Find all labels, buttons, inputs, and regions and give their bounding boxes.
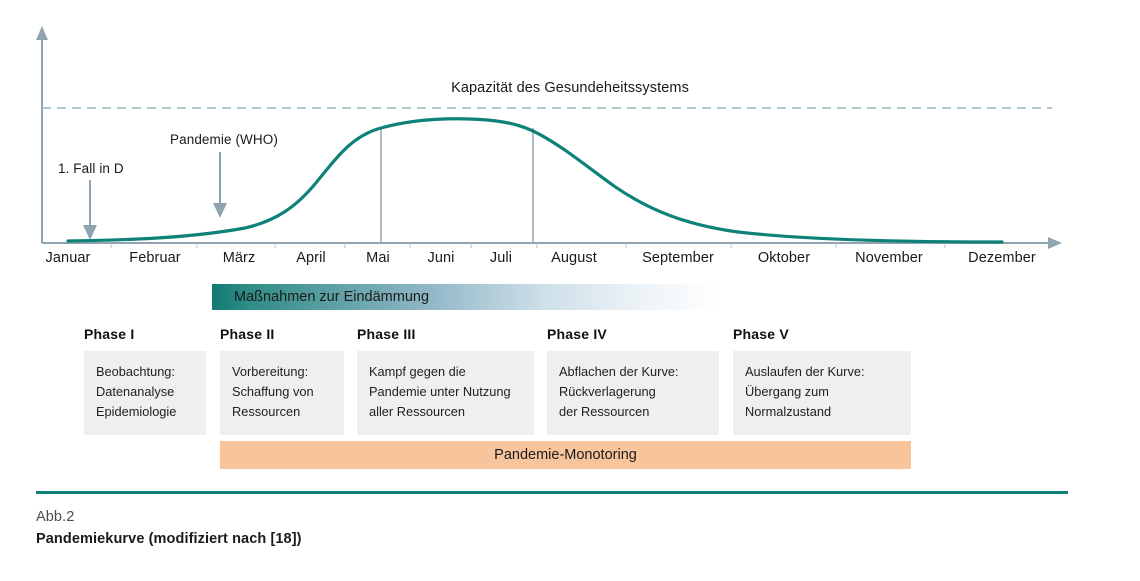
containment-measures-bar: Maßnahmen zur Eindämmung	[212, 284, 720, 310]
phase-description-box: Kampf gegen diePandemie unter Nutzungall…	[357, 351, 534, 435]
phase-description-line: Schaffung von	[232, 382, 332, 402]
month-label-dezember: Dezember	[942, 250, 1062, 266]
phase-title: Phase I	[84, 326, 206, 342]
phase-column-2: Phase IIVorbereitung:Schaffung vonRessou…	[220, 326, 344, 435]
phase-description-line: Ressourcen	[232, 402, 332, 422]
month-label-november: November	[829, 250, 949, 266]
phase-description-box: Auslaufen der Kurve:Übergang zumNormalzu…	[733, 351, 911, 435]
x-axis-month-labels: JanuarFebruarMärzAprilMaiJuniJuliAugustS…	[0, 250, 1140, 274]
phase-description-line: Vorbereitung:	[232, 362, 332, 382]
y-axis-arrow-icon	[36, 26, 48, 40]
phase-description-line: Rückverlagerung	[559, 382, 707, 402]
chart-area: Kapazität des Gesundeheitssystems 1. Fal…	[0, 0, 1140, 275]
containment-measures-label: Maßnahmen zur Eindämmung	[234, 284, 429, 310]
phase-description-line: Beobachtung:	[96, 362, 194, 382]
phase-description-line: Auslaufen der Kurve:	[745, 362, 899, 382]
annotation-label-pandemic-who: Pandemie (WHO)	[170, 132, 278, 147]
caption-divider	[36, 491, 1068, 494]
phase-title: Phase II	[220, 326, 344, 342]
phase-title: Phase III	[357, 326, 534, 342]
phase-title: Phase IV	[547, 326, 719, 342]
phase-description-line: Kampf gegen die	[369, 362, 522, 382]
phase-column-3: Phase IIIKampf gegen diePandemie unter N…	[357, 326, 534, 435]
figure-caption: Abb.2 Pandemiekurve (modifiziert nach [1…	[36, 509, 836, 547]
phase-description-line: Datenanalyse	[96, 382, 194, 402]
caption-number: Abb.2	[36, 509, 836, 525]
phase-description-box: Beobachtung:DatenanalyseEpidemiologie	[84, 351, 206, 435]
month-label-oktober: Oktober	[724, 250, 844, 266]
phase-column-1: Phase IBeobachtung:DatenanalyseEpidemiol…	[84, 326, 206, 435]
phase-description-line: aller Ressourcen	[369, 402, 522, 422]
pandemic-monitoring-bar: Pandemie-Monotoring	[220, 441, 911, 469]
phase-description-line: Epidemiologie	[96, 402, 194, 422]
caption-title: Pandemiekurve (modifiziert nach [18])	[36, 531, 836, 547]
phase-column-5: Phase VAuslaufen der Kurve:Übergang zumN…	[733, 326, 911, 435]
phase-description-box: Vorbereitung:Schaffung vonRessourcen	[220, 351, 344, 435]
annotation-label-first-case: 1. Fall in D	[58, 161, 124, 176]
phase-description-line: der Ressourcen	[559, 402, 707, 422]
annotation-arrow-pandemic-who	[213, 152, 227, 218]
phase-description-line: Normalzustand	[745, 402, 899, 422]
phase-description-box: Abflachen der Kurve:Rückverlagerungder R…	[547, 351, 719, 435]
phase-description-line: Pandemie unter Nutzung	[369, 382, 522, 402]
phase-description-line: Übergang zum	[745, 382, 899, 402]
x-axis-arrow-icon	[1048, 237, 1062, 249]
phase-column-4: Phase IVAbflachen der Kurve:Rückverlager…	[547, 326, 719, 435]
phase-title: Phase V	[733, 326, 911, 342]
month-label-august: August	[514, 250, 634, 266]
pandemic-curve-figure: Kapazität des Gesundeheitssystems 1. Fal…	[0, 0, 1140, 581]
capacity-threshold-label: Kapazität des Gesundeheitssystems	[0, 80, 1140, 96]
annotation-arrow-first-case	[83, 180, 97, 240]
month-label-september: September	[618, 250, 738, 266]
phase-description-line: Abflachen der Kurve:	[559, 362, 707, 382]
